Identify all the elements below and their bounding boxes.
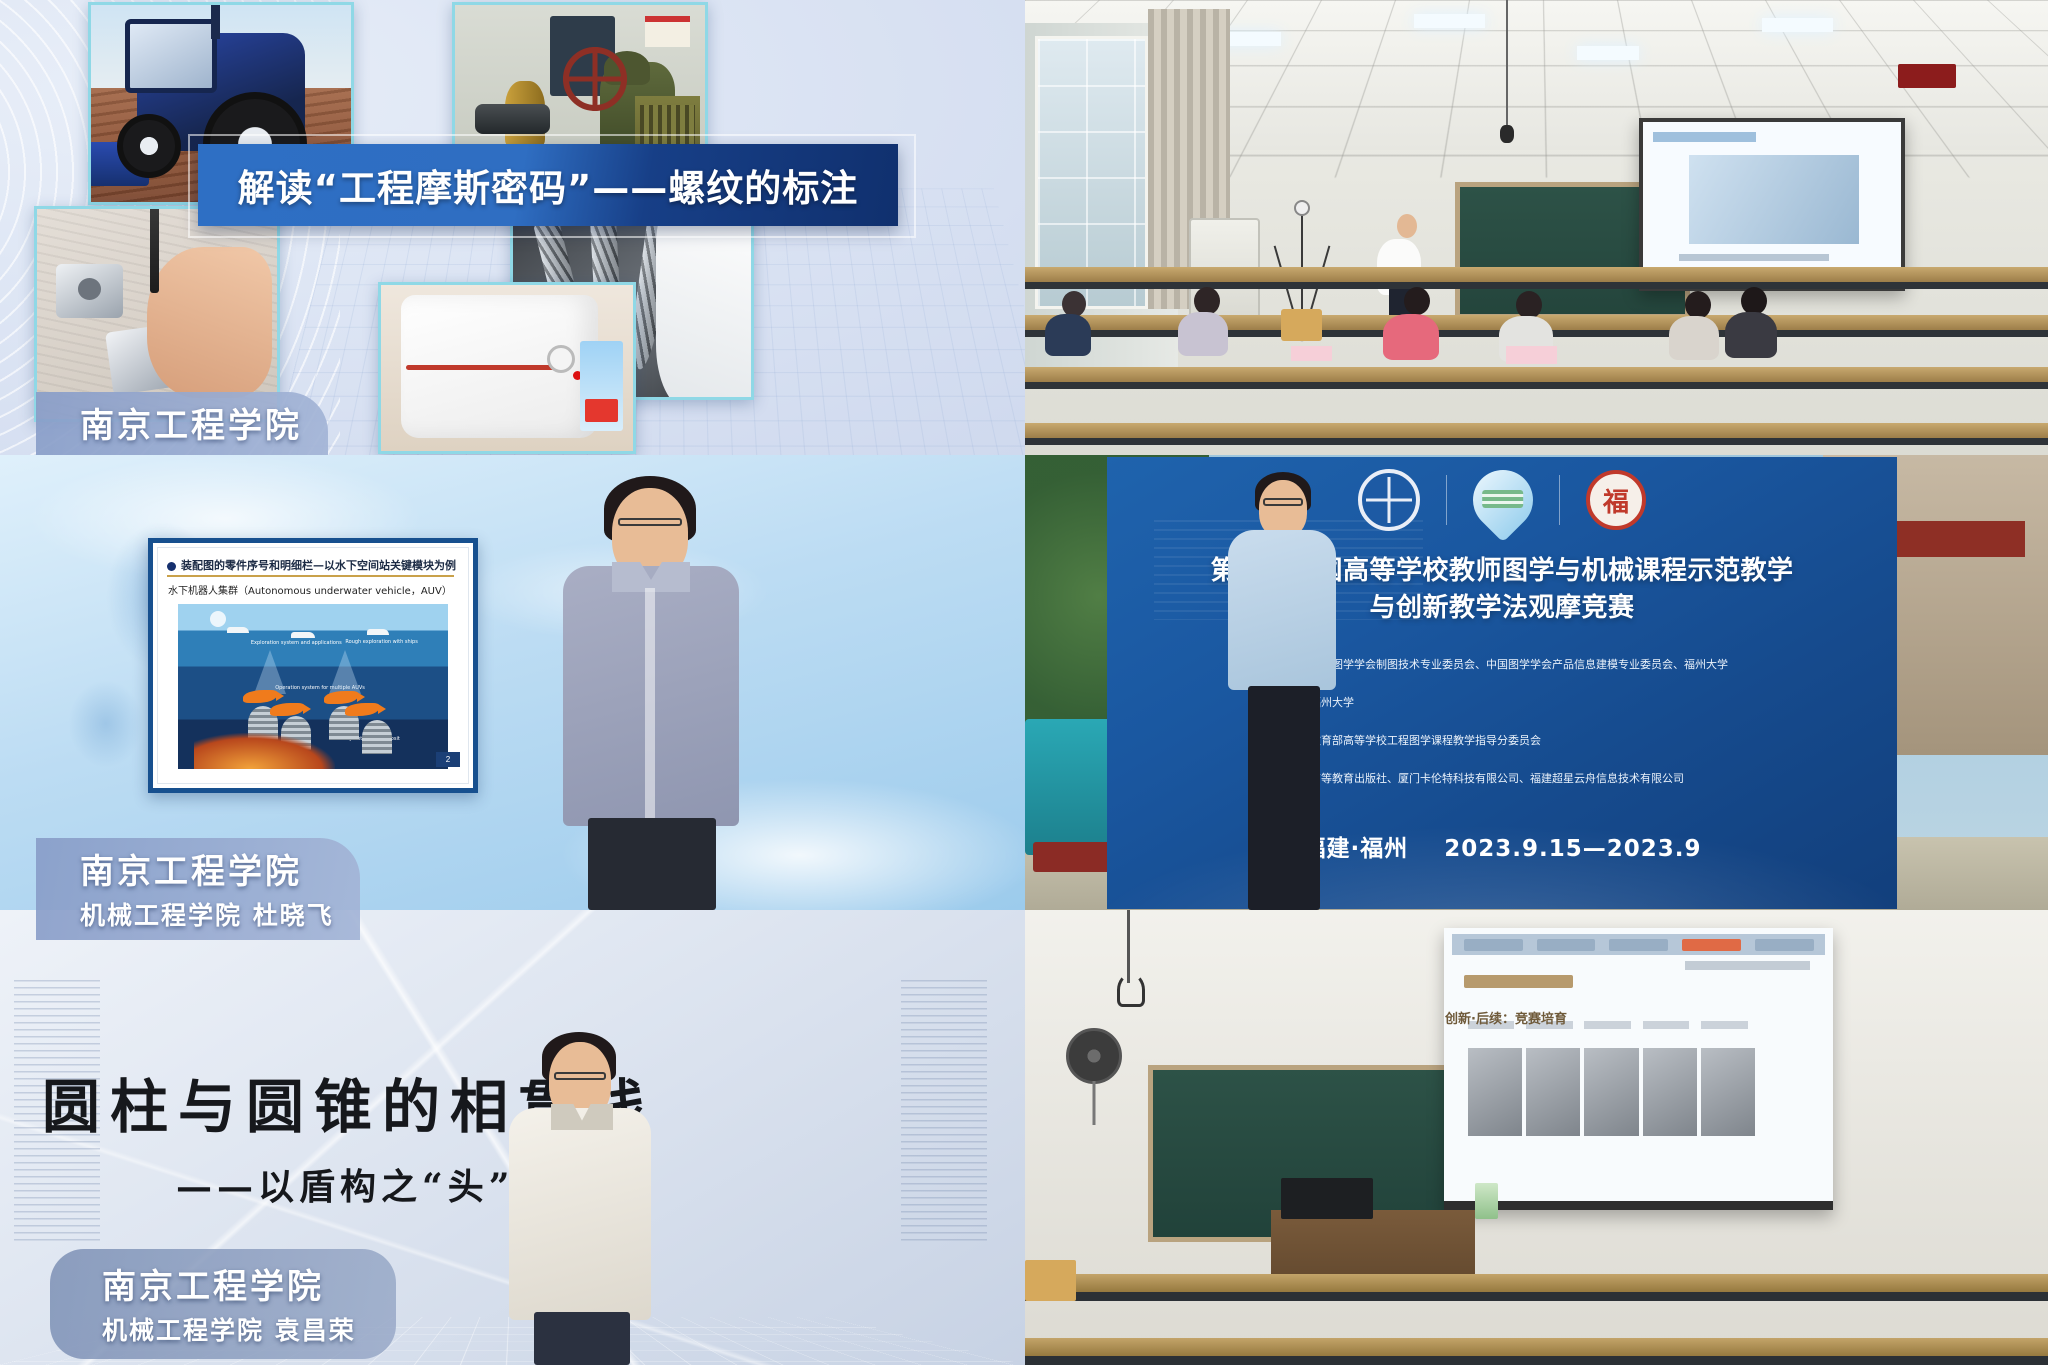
panel-conference-banner	[1025, 455, 2048, 910]
panel-auv-slide	[0, 455, 1025, 910]
audience-head	[1741, 287, 1767, 315]
panel-thread-title: 解读“工程摩斯密码”——螺纹的标注 南京工程学院	[0, 0, 1025, 455]
world-map-backdrop	[21, 501, 493, 820]
audience-head	[1194, 287, 1220, 315]
lesson-title-ribbon: 解读“工程摩斯密码”——螺纹的标注	[198, 144, 898, 226]
institution-name: 南京工程学院	[80, 398, 302, 447]
audience-head	[1685, 291, 1711, 319]
ground	[1025, 837, 2048, 910]
audience-body	[1045, 314, 1091, 356]
stool	[1281, 309, 1322, 341]
water-heater-photo	[378, 282, 636, 454]
camera-head	[1294, 200, 1310, 216]
panel-lecture-hall-top	[1025, 0, 2048, 455]
parked-truck	[1025, 719, 1158, 856]
lecturer-head	[1397, 214, 1417, 238]
podium-monitor	[1281, 1178, 1373, 1219]
audience-body	[1725, 312, 1777, 358]
institution-badge: 南京工程学院	[36, 392, 328, 455]
exit-sign	[1898, 64, 1956, 88]
panel-intersection-title	[0, 910, 1025, 1365]
slide-navbar	[1452, 934, 1825, 956]
desk-nameplate	[1506, 346, 1557, 364]
stool	[1025, 1260, 1076, 1301]
photo-collage: 解读“工程摩斯密码”——螺纹的标注 南京工程学院	[0, 0, 2048, 1365]
decorative-text-column	[14, 980, 100, 1245]
trees	[1025, 455, 1209, 737]
wall-fan	[1066, 1028, 1122, 1084]
water-bottle	[1475, 1183, 1498, 1219]
audience-body	[1178, 312, 1228, 356]
building	[1823, 455, 2048, 755]
desk-nameplate	[1291, 346, 1332, 361]
audience-body	[1383, 314, 1439, 360]
hand-metal-part-photo	[34, 206, 280, 422]
lecture-hall-photo	[1025, 0, 2048, 455]
audience-body	[1669, 316, 1719, 360]
panel-classroom-projector	[1025, 910, 2048, 1365]
hanging-microphone	[1506, 0, 1508, 127]
projection-screen	[1444, 928, 1833, 1210]
decorative-text-column	[901, 980, 987, 1245]
audience-head	[1404, 287, 1430, 315]
lesson-title-text: 解读“工程摩斯密码”——螺纹的标注	[238, 158, 859, 212]
ceiling-hook	[1127, 910, 1130, 983]
polygon-backdrop	[0, 910, 1025, 1365]
